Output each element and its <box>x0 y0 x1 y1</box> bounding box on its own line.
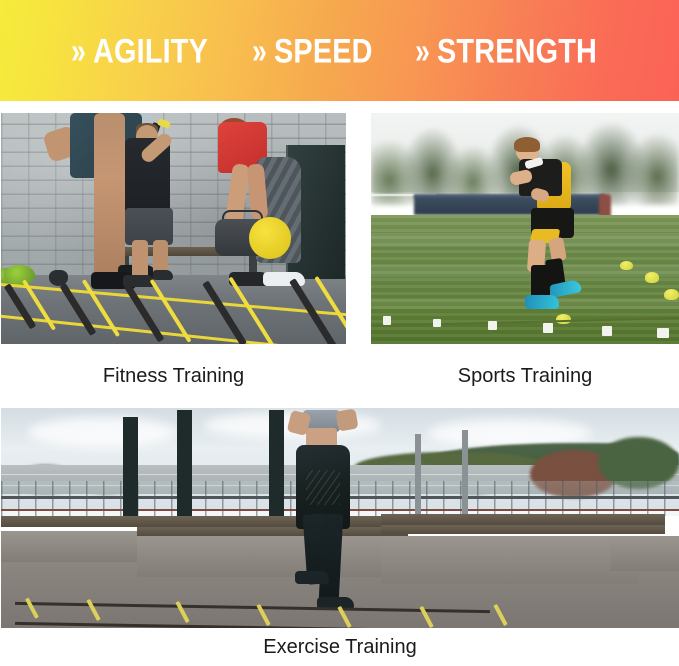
training-cone <box>664 289 679 301</box>
bleacher-base <box>137 536 395 578</box>
caption-exercise-training: Exercise Training <box>1 637 679 657</box>
cloud <box>28 417 177 448</box>
ladder-rung <box>657 328 668 339</box>
banner-label-strength: STRENGTH <box>437 33 597 68</box>
training-cone <box>645 272 659 282</box>
bleacher-row <box>381 525 666 535</box>
double-chevron-right-icon: » <box>252 32 264 69</box>
double-chevron-right-icon: » <box>71 32 83 69</box>
ladder-rung <box>488 321 497 330</box>
banner-item-speed: » SPEED <box>251 35 380 66</box>
person-cleat <box>525 295 559 309</box>
banner-item-agility: » AGILITY <box>70 35 217 66</box>
bleacher-row <box>137 527 408 536</box>
person-shorts <box>125 208 173 245</box>
bleacher-row <box>381 514 666 525</box>
ladder-rung <box>602 326 612 336</box>
pole <box>415 434 422 518</box>
feature-banner: » AGILITY » SPEED » STRENGTH <box>0 0 679 101</box>
light-post <box>269 410 284 516</box>
mow-stripe <box>371 265 679 277</box>
person-shoe <box>153 270 174 280</box>
caption-fitness-training: Fitness Training <box>1 366 346 386</box>
banner-label-speed: SPEED <box>274 33 373 68</box>
photo-sports-training <box>371 113 679 344</box>
person-shoe <box>295 571 329 584</box>
double-chevron-right-icon: » <box>415 32 427 69</box>
ladder-rung <box>383 316 391 324</box>
person-sock <box>531 265 549 297</box>
agility-ladder <box>1 284 346 344</box>
light-post <box>123 417 138 518</box>
ladder-rung <box>433 319 442 328</box>
pole <box>462 430 468 518</box>
bleacher-row <box>130 516 401 527</box>
bleacher-base <box>611 536 679 571</box>
building <box>414 196 605 214</box>
mow-stripe <box>371 233 679 247</box>
light-post <box>177 410 192 516</box>
person-leg <box>94 113 125 279</box>
banner-item-strength: » STRENGTH <box>414 35 609 66</box>
person-hair <box>514 137 540 152</box>
training-cone <box>620 261 632 270</box>
banner-items: » AGILITY » SPEED » STRENGTH <box>0 35 679 66</box>
photo-fitness-training <box>1 113 346 344</box>
bleacher-base <box>1 531 150 562</box>
product-feature-image: » AGILITY » SPEED » STRENGTH <box>0 0 679 666</box>
photo-exercise-training <box>1 408 679 628</box>
leggings-mesh-panel <box>306 470 340 505</box>
bleacher-base <box>381 536 639 584</box>
banner-label-agility: AGILITY <box>93 33 208 68</box>
ladder-rung <box>543 323 553 333</box>
sandbag-end-cap <box>249 217 290 259</box>
caption-sports-training: Sports Training <box>371 366 679 386</box>
person-arm <box>335 409 358 432</box>
